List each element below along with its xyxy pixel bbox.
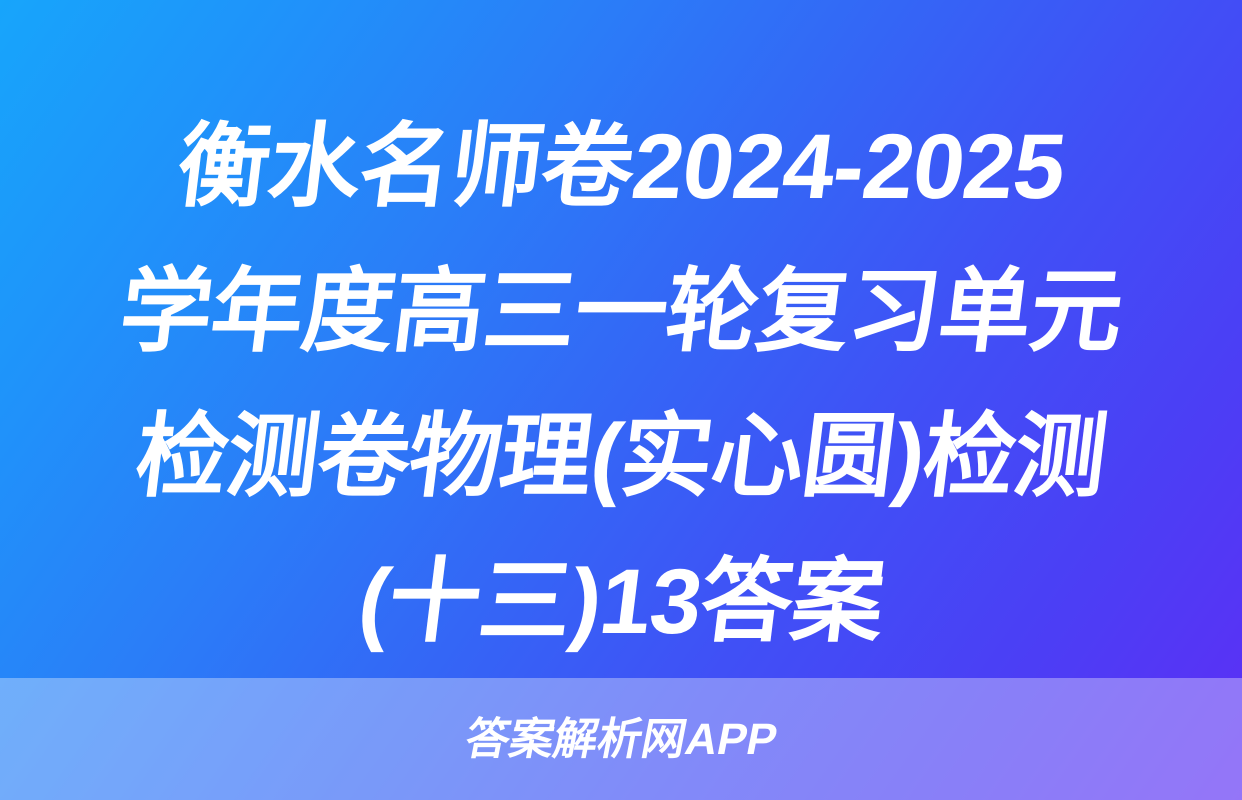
title-line-4: (十三)13答案: [45, 530, 1197, 675]
page-title: 衡水名师卷2024-2025 学年度高三一轮复习单元 检测卷物理(实心圆)检测 …: [0, 95, 1242, 675]
cover-page: 衡水名师卷2024-2025 学年度高三一轮复习单元 检测卷物理(实心圆)检测 …: [0, 0, 1242, 800]
brand-name-label: 答案解析网APP: [461, 717, 780, 763]
title-line-1: 衡水名师卷2024-2025: [45, 95, 1197, 240]
footer-brand-band: 答案解析网APP: [0, 678, 1242, 800]
title-line-2: 学年度高三一轮复习单元: [45, 240, 1197, 385]
title-line-3: 检测卷物理(实心圆)检测: [45, 385, 1197, 530]
